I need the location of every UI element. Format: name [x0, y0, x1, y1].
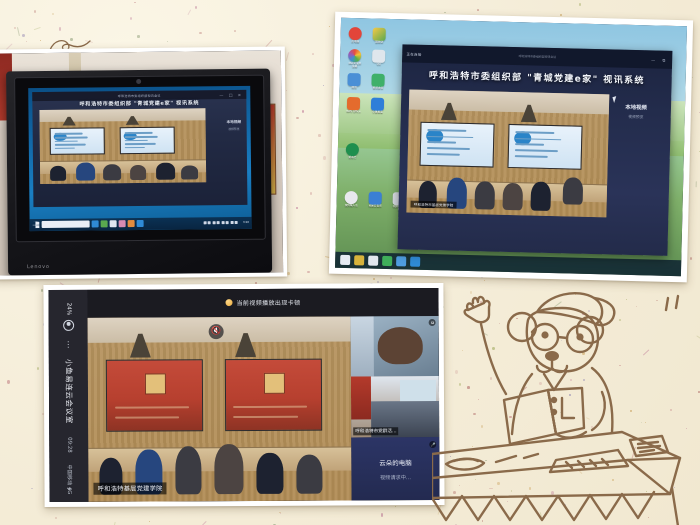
desktop-icon[interactable]: 腾讯会议: [371, 74, 386, 91]
local-video-panel: 本地视频 视频预览: [609, 103, 663, 121]
taskbar-icon-explorer[interactable]: [354, 255, 364, 265]
collapse-icon[interactable]: ⌄: [65, 483, 73, 493]
taskbar-icon-wechat[interactable]: [382, 256, 392, 266]
taskbar-icon-conference[interactable]: [127, 221, 134, 228]
laptop-body: 呼和浩特市委组织部视讯会议 — □ ✕ 呼和浩特市委组织部 "青城党建e家" 视…: [6, 68, 271, 275]
projector-screen-right: [225, 359, 322, 432]
desktop-taskbar[interactable]: [335, 251, 681, 276]
participant-name: 云朵的电脑: [379, 457, 412, 467]
photo-laptop[interactable]: 呼和浩特市委组织部视讯会议 — □ ✕ 呼和浩特市委组织部 "青城党建e家" 视…: [0, 46, 287, 279]
conference-app-window[interactable]: 正在连接 呼和浩特市委组织部视讯会议 — ⧉ 呼和浩特市委组织部 "青城党建e家…: [398, 44, 673, 256]
desktop-icon[interactable]: 回收站: [372, 28, 387, 45]
meeting-room-video: [39, 109, 206, 184]
main-video-tile[interactable]: 🔇 呼和浩特基层党建学院: [88, 316, 352, 502]
desktop-icon[interactable]: QQ: [371, 50, 386, 67]
meeting-room-video: 呼和浩特市基层党建学院: [407, 90, 610, 218]
photo-phone[interactable]: 24% ⋮ 小鱼易连云会议室 09:28 中国移动 4G ⌄ 当前视频播放出现卡…: [43, 283, 444, 507]
warning-icon: [225, 299, 232, 306]
phone-screen: 24% ⋮ 小鱼易连云会议室 09:28 中国移动 4G ⌄ 当前视频播放出现卡…: [48, 288, 439, 502]
desktop-icon[interactable]: 爱奇艺: [345, 143, 360, 160]
battery-level: 24%: [65, 303, 71, 315]
taskbar-icon-files[interactable]: [368, 255, 378, 265]
participant-tile-no-video[interactable]: 云朵的电脑 视频请求中… 🎤: [351, 437, 439, 500]
taskbar-icon-app[interactable]: [118, 221, 125, 228]
toast-text: 当前视频播放出现卡顿: [236, 298, 300, 307]
slide-screen-left: [420, 122, 495, 168]
desktop-icon[interactable]: 微信: [347, 73, 362, 90]
more-icon[interactable]: ⋮: [64, 340, 72, 349]
taskbar-icon-explorer[interactable]: [100, 221, 107, 228]
window-controls[interactable]: — □ ✕: [219, 92, 243, 97]
tile-name-tag: 呼和浩特市党群活…: [353, 428, 398, 436]
local-video-label: 本地视频: [609, 103, 663, 112]
participant-status: 视频请求中…: [380, 474, 411, 481]
mute-icon[interactable]: 🔇: [209, 324, 224, 339]
desktop-icon[interactable]: 此电脑: [348, 27, 363, 44]
conference-heading: 呼和浩特市委组织部 "青城党建e家" 视讯系统: [32, 99, 246, 108]
desktop-icon[interactable]: 360安全浏览器: [347, 49, 362, 69]
desktop-icon[interactable]: 搜狗输入法: [344, 191, 359, 208]
conference-heading: 呼和浩特市委组织部 "青城党建e家" 视讯系统: [402, 67, 672, 87]
start-button-icon[interactable]: [32, 222, 39, 229]
projector-screen-right: [119, 127, 175, 155]
laptop-brand-label: Lenovo: [27, 264, 50, 270]
taskbar-icon-store[interactable]: [109, 221, 116, 228]
taskbar-icon-qq[interactable]: [396, 256, 406, 266]
taskbar-icon-browser[interactable]: [136, 220, 143, 227]
conference-window[interactable]: 呼和浩特市委组织部视讯会议 — □ ✕ 呼和浩特市委组织部 "青城党建e家" 视…: [32, 90, 247, 207]
meeting-title: 小鱼易连云会议室: [63, 359, 74, 424]
participant-rail[interactable]: ⧉ 呼和浩特市党群活… 云朵的电脑 视频请求中… 🎤: [351, 316, 440, 501]
local-video-sublabel: 视频预览: [227, 127, 241, 131]
window-controls[interactable]: — ⧉: [651, 57, 668, 62]
taskbar-clock[interactable]: 9:28: [243, 221, 249, 224]
connection-status: 正在连接: [406, 51, 421, 56]
room-name-tag: 呼和浩特市基层党建学院: [411, 201, 457, 209]
photo-desktop-image: 此电脑 回收站 360安全浏览器 QQ: [335, 18, 687, 276]
start-button-icon[interactable]: [340, 255, 350, 265]
projector-screen-left: [106, 359, 203, 432]
participant-tile[interactable]: 呼和浩特市党群活…: [351, 376, 439, 437]
projector-screen-left: [49, 127, 105, 155]
collage-stage: 呼和浩特市委组织部视讯会议 — □ ✕ 呼和浩特市委组织部 "青城党建e家" 视…: [0, 0, 700, 525]
taskbar-icon-edge[interactable]: [91, 221, 98, 228]
photo-desktop-pc[interactable]: 此电脑 回收站 360安全浏览器 QQ: [329, 12, 693, 283]
bear-doodle: [432, 282, 700, 525]
phone-app-area: 当前视频播放出现卡顿: [87, 288, 439, 502]
local-video-panel: 本地视频 视频预览: [227, 120, 241, 131]
local-video-label: 本地视频: [227, 120, 241, 125]
phone-status-rail: 24% ⋮ 小鱼易连云会议室 09:28 中国移动 4G ⌄: [48, 290, 88, 502]
record-dot-icon: [66, 321, 70, 325]
desktop-icon[interactable]: WPS Office: [346, 97, 361, 114]
windows-taskbar[interactable]: 9:28: [29, 216, 252, 231]
photo-laptop-image: 呼和浩特市委组织部视讯会议 — □ ✕ 呼和浩特市委组织部 "青城党建e家" 视…: [0, 51, 283, 276]
webcam-icon: [137, 79, 142, 84]
laptop-screen: 呼和浩特市委组织部视讯会议 — □ ✕ 呼和浩特市委组织部 "青城党建e家" 视…: [28, 86, 252, 232]
status-clock: 09:28: [66, 437, 72, 453]
taskbar-icon-browser[interactable]: [410, 256, 420, 266]
laptop-bezel: 呼和浩特市委组织部视讯会议 — □ ✕ 呼和浩特市委组织部 "青城党建e家" 视…: [14, 75, 265, 243]
slide-screen-right: [508, 124, 583, 170]
system-tray[interactable]: [204, 221, 239, 224]
local-video-sublabel: 视频预览: [609, 114, 663, 121]
lag-toast: 当前视频播放出现卡顿: [87, 288, 438, 317]
window-title: 呼和浩特市委组织部视讯会议: [118, 93, 161, 97]
app-window-title: 呼和浩特市委组织部视讯会议: [519, 54, 557, 59]
desktop-icon[interactable]: 网易云音乐: [368, 192, 383, 209]
photo-phone-image: 24% ⋮ 小鱼易连云会议室 09:28 中国移动 4G ⌄ 当前视频播放出现卡…: [48, 288, 439, 502]
desktop-icon[interactable]: 小鱼易连: [370, 98, 385, 115]
main-video-name-tag: 呼和浩特基层党建学院: [94, 482, 167, 494]
taskbar-search-input[interactable]: [41, 221, 89, 229]
participant-tile[interactable]: ⧉: [351, 316, 439, 377]
